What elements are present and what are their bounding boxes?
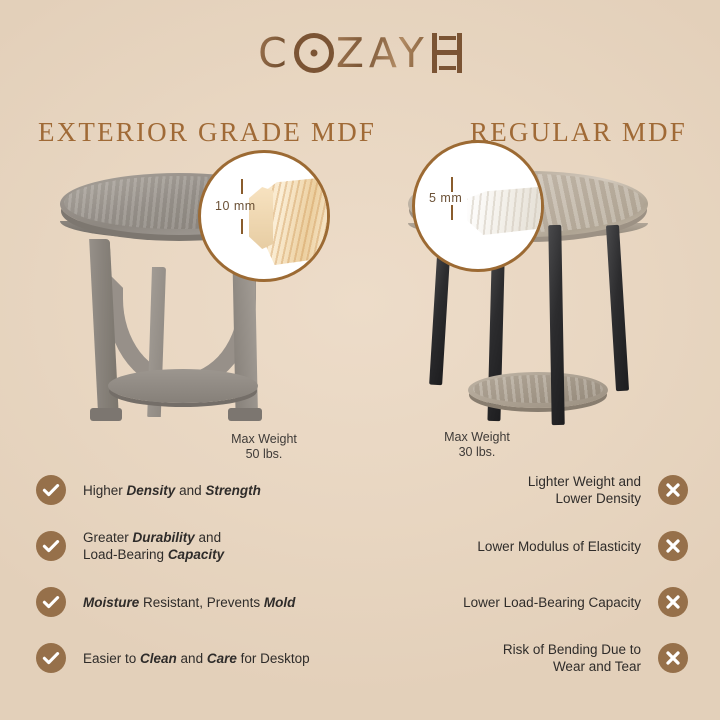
logo-letters-zay: ZAY [336, 29, 429, 77]
table-foot [228, 408, 262, 421]
feature-row: Risk of Bending Due toWear and Tear [360, 630, 720, 686]
feature-row: Lower Modulus of Elasticity [360, 518, 720, 574]
feature-text: Moisture Resistant, Prevents Mold [83, 594, 295, 611]
heading-exterior-grade-mdf: EXTERIOR GRADE MDF [38, 117, 376, 148]
mdf-edge-sample [467, 183, 544, 235]
feature-text: Lower Modulus of Elasticity [477, 538, 641, 555]
check-icon [36, 643, 66, 673]
table-leg [548, 225, 564, 425]
max-weight-label: Max Weight [392, 430, 562, 445]
check-icon [36, 531, 66, 561]
logo-letter-h-icon [432, 33, 462, 73]
feature-row: Higher Density and Strength [0, 462, 360, 518]
infographic-page: C ZAY EXTERIOR GRADE MDF REGULAR MDF [0, 0, 720, 720]
cozayh-wordmark-icon: C ZAY [258, 29, 462, 77]
check-icon [36, 587, 66, 617]
measure-tick-icon [241, 179, 243, 194]
check-icon [36, 475, 66, 505]
cross-icon [658, 475, 688, 505]
feature-row: Lighter Weight andLower Density [360, 462, 720, 518]
lower-shelf [468, 372, 608, 408]
feature-text: Lighter Weight andLower Density [528, 473, 641, 507]
thickness-callout-right: 5 mm [412, 140, 544, 272]
cross-icon [658, 587, 688, 617]
measure-tick-icon [451, 177, 453, 192]
max-weight-left: Max Weight 50 lbs. [179, 432, 349, 462]
logo-letter-c: C [258, 29, 292, 77]
cross-icon [658, 643, 688, 673]
feature-row: Lower Load-Bearing Capacity [360, 574, 720, 630]
max-weight-right: Max Weight 30 lbs. [392, 430, 562, 460]
measure-tick-icon [451, 205, 453, 220]
feature-text: Risk of Bending Due toWear and Tear [503, 641, 641, 675]
table-leg [606, 225, 629, 391]
max-weight-value: 50 lbs. [179, 447, 349, 462]
table-foot [90, 408, 122, 421]
lower-shelf [108, 369, 258, 403]
thickness-label: 5 mm [429, 191, 462, 205]
feature-text: Easier to Clean and Care for Desktop [83, 650, 310, 667]
cross-icon [658, 531, 688, 561]
thickness-label: 10 mm [215, 199, 256, 213]
feature-text: Greater Durability andLoad-Bearing Capac… [83, 529, 224, 563]
measure-tick-icon [241, 219, 243, 234]
feature-row: Moisture Resistant, Prevents Mold [0, 574, 360, 630]
feature-text: Lower Load-Bearing Capacity [463, 594, 641, 611]
feature-row: Greater Durability andLoad-Bearing Capac… [0, 518, 360, 574]
feature-list-exterior-grade: Higher Density and StrengthGreater Durab… [0, 462, 360, 686]
max-weight-label: Max Weight [179, 432, 349, 447]
brand-logo: C ZAY [0, 22, 720, 84]
mdf-edge-face [249, 187, 273, 249]
feature-row: Easier to Clean and Care for Desktop [0, 630, 360, 686]
feature-list-regular: Lighter Weight andLower DensityLower Mod… [360, 462, 720, 686]
thickness-callout-left: 10 mm [198, 150, 330, 282]
feature-text: Higher Density and Strength [83, 482, 261, 499]
logo-letter-o-icon [294, 33, 334, 73]
magnifier-circle: 5 mm [412, 140, 544, 272]
magnifier-circle: 10 mm [198, 150, 330, 282]
max-weight-value: 30 lbs. [392, 445, 562, 460]
